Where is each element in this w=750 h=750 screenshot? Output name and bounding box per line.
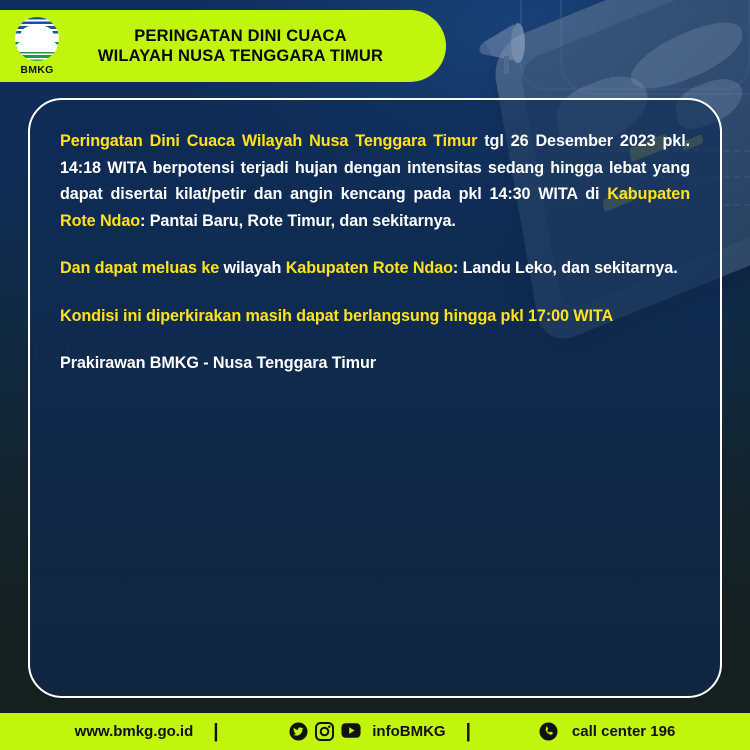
call-center-group: call center 196 [539,722,675,741]
website-link[interactable]: www.bmkg.go.id [75,723,194,740]
header-banner: BMKG PERINGATAN DINI CUACA WILAYAH NUSA … [0,10,446,82]
paragraph-3-duration: Kondisi ini diperkirakan masih dapat ber… [60,303,690,330]
page-title: PERINGATAN DINI CUACA WILAYAH NUSA TENGG… [69,26,446,67]
p1-highlight-region: Peringatan Dini Cuaca Wilayah Nusa Tengg… [60,132,477,150]
paragraph-1: Peringatan Dini Cuaca Wilayah Nusa Tengg… [60,128,690,234]
p2-plain-a: wilayah [219,259,286,277]
warning-card: Peringatan Dini Cuaca Wilayah Nusa Tengg… [28,98,722,698]
p2-plain-b: : Landu Leko, dan sekitarnya. [453,259,678,277]
footer-separator-2: | [466,721,471,743]
youtube-icon[interactable] [341,722,360,741]
p2-highlight-regency: Kabupaten Rote Ndao [286,259,453,277]
social-group: infoBMKG [289,722,445,741]
twitter-icon[interactable] [289,722,308,741]
footer-bar: www.bmkg.go.id | infoBMKG | [0,713,750,750]
instagram-icon[interactable] [315,722,334,741]
bmkg-logo: BMKG [11,17,63,75]
paragraph-2: Dan dapat meluas ke wilayah Kabupaten Ro… [60,255,690,282]
bmkg-logo-text: BMKG [11,64,63,76]
call-center-label[interactable]: call center 196 [572,723,675,740]
p1-plain-b: : Pantai Baru, Rote Timur, dan sekitarny… [140,212,456,230]
page-title-line2: WILAYAH NUSA TENGGARA TIMUR [69,46,412,66]
footer-separator-1: | [213,721,269,743]
paragraph-4-signature: Prakirawan BMKG - Nusa Tenggara Timur [60,350,690,377]
p2-highlight-spread: Dan dapat meluas ke [60,259,219,277]
page-title-line1: PERINGATAN DINI CUACA [69,26,412,46]
phone-icon[interactable] [539,722,558,741]
megaphone-icon [470,16,550,78]
social-handle[interactable]: infoBMKG [372,723,445,740]
